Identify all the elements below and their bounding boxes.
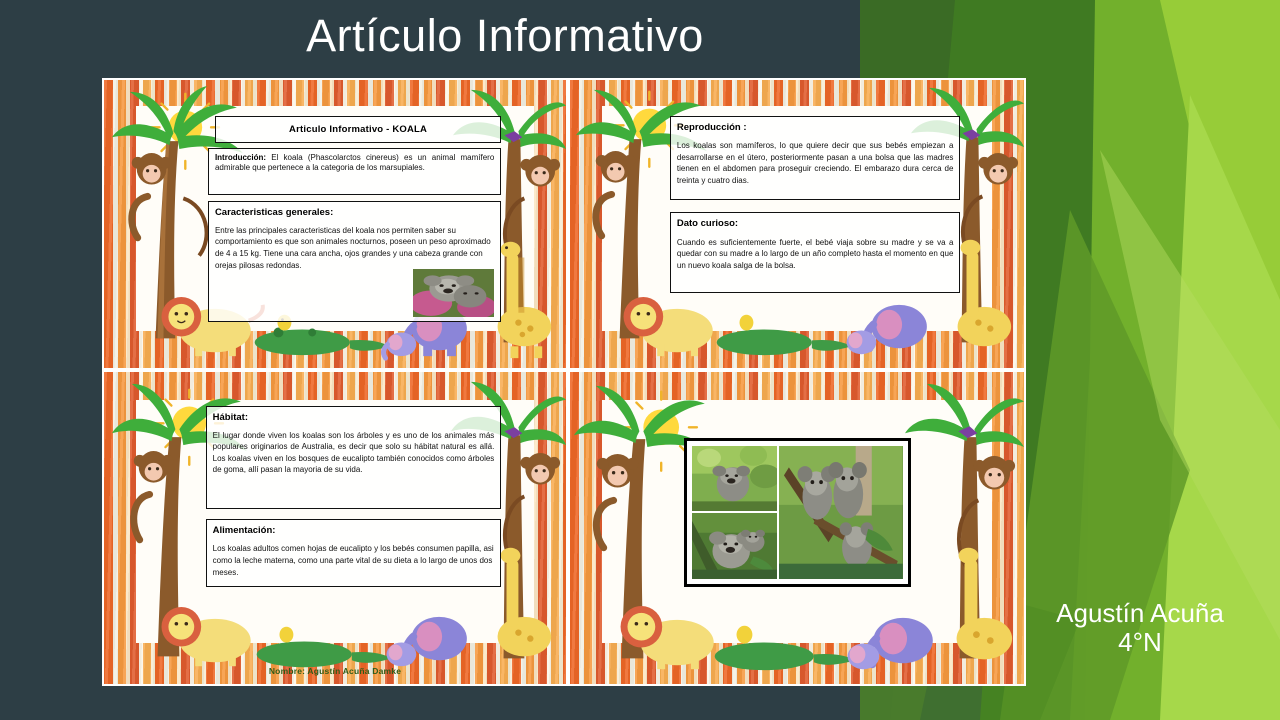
panel3-alimentacion-box: Alimentación: Los koalas adultos comen h… (206, 519, 502, 588)
panel2-dato-curioso-box: Dato curioso: Cuando es suficientemente … (670, 212, 961, 293)
koala-mother-and-joey-photo (692, 513, 777, 579)
introduccion-heading: Introducción: (215, 153, 266, 162)
koala-photo-collage-frame (684, 438, 911, 588)
alimentacion-body: Los koalas adultos comen hojas de eucali… (213, 543, 495, 578)
panel1-caracteristicas-box: Caracteristicas generales: Entre las pri… (208, 201, 501, 322)
poster-panel-reproduccion: Reproducción : Los koalas son mamíferos,… (568, 78, 1026, 370)
caracteristicas-heading: Caracteristicas generales: (215, 206, 494, 220)
poster-panel-photos (568, 370, 1026, 686)
dato-curioso-heading: Dato curioso: (677, 217, 954, 230)
panel1-title-text: Articulo Informativo - KOALA (289, 124, 427, 135)
caracteristicas-body: Entre las principales caracteristicas de… (215, 225, 494, 271)
koala-on-branch-photo (692, 446, 777, 512)
author-grade: 4°N (1018, 628, 1262, 658)
panel2-reproduccion-box: Reproducción : Los koalas son mamíferos,… (670, 116, 961, 200)
reproduccion-body: Los koalas son mamíferos, lo que quiere … (677, 140, 954, 185)
author-name: Agustín Acuña (1056, 598, 1224, 628)
panel3-habitat-box: Hábitat: El lugar donde viven los koalas… (206, 406, 502, 509)
koala-cluster-photo (413, 269, 495, 318)
habitat-heading: Hábitat: (213, 411, 495, 424)
slide-title: Artículo Informativo (0, 2, 1010, 70)
panel3-nombre-footer: Nombre: Agustín Acuña Damke (104, 666, 566, 676)
panel1-introduccion-box: Introducción: El koala (Phascolarctos ci… (208, 148, 501, 196)
alimentacion-heading: Alimentación: (213, 524, 495, 538)
koalas-in-tree-photo (779, 446, 903, 580)
slide-canvas: Artículo Informativo (0, 0, 1280, 720)
inserted-poster-image[interactable]: Articulo Informativo - KOALA Introducció… (102, 78, 1026, 686)
poster-panel-habitat: Hábitat: El lugar donde viven los koalas… (102, 370, 568, 686)
habitat-body: El lugar donde viven los koalas son los … (213, 430, 495, 475)
author-block: Agustín Acuña 4°N (1018, 599, 1262, 658)
dato-curioso-body: Cuando es suficientemente fuerte, el beb… (677, 237, 954, 271)
panel1-title-box: Articulo Informativo - KOALA (215, 116, 501, 143)
reproduccion-heading: Reproducción : (677, 121, 954, 134)
poster-panel-koala-intro: Articulo Informativo - KOALA Introducció… (102, 78, 568, 370)
